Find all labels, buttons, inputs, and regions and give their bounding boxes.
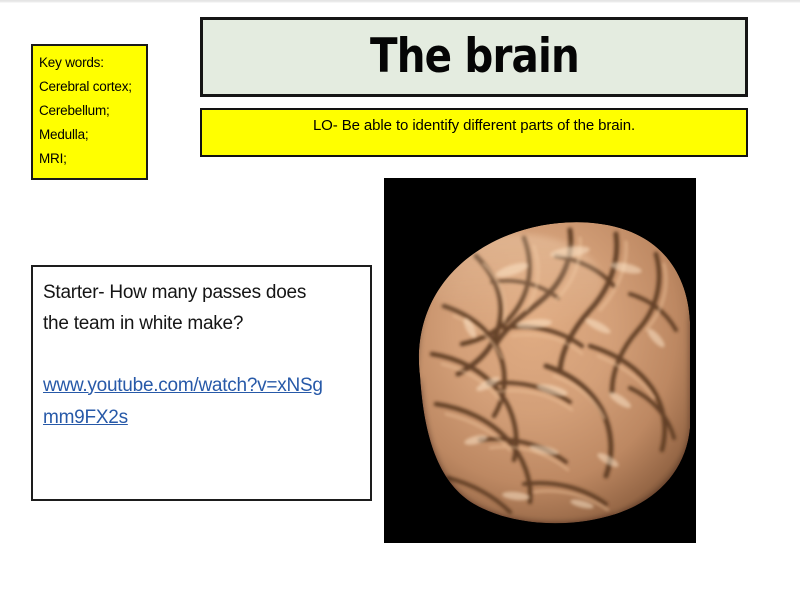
window-top-edge-strip: [0, 0, 800, 3]
starter-question-line-0: Starter- How many passes does: [43, 278, 360, 309]
starter-spacer: [43, 340, 360, 370]
key-words-heading: Key words:: [39, 51, 146, 75]
title-box: The brain: [200, 17, 748, 97]
youtube-link-line-0[interactable]: www.youtube.com/watch?v=xNSg: [43, 370, 323, 403]
key-words-box: Key words: Cerebral cortex; Cerebellum; …: [31, 44, 148, 180]
key-words-item-3: MRI;: [39, 147, 146, 171]
presentation-slide: Key words: Cerebral cortex; Cerebellum; …: [0, 0, 800, 600]
key-words-item-1: Cerebellum;: [39, 99, 146, 123]
key-words-item-0: Cerebral cortex;: [39, 75, 146, 99]
brain-photograph: [384, 178, 696, 543]
slide-title: The brain: [370, 33, 579, 80]
brain-illustration: [384, 178, 696, 543]
youtube-link-line-1[interactable]: mm9FX2s: [43, 402, 128, 435]
starter-activity-box: Starter- How many passes does the team i…: [31, 265, 372, 501]
starter-question-line-1: the team in white make?: [43, 309, 360, 340]
learning-objective-text: LO- Be able to identify different parts …: [313, 117, 635, 135]
learning-objective-box: LO- Be able to identify different parts …: [200, 108, 748, 157]
key-words-item-2: Medulla;: [39, 123, 146, 147]
